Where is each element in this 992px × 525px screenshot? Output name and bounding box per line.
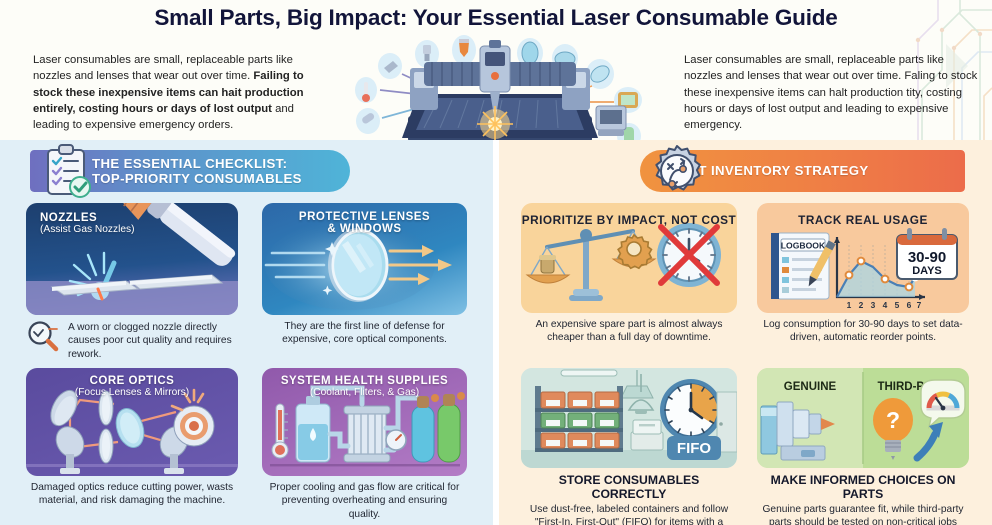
card-track-title-main: TRACK REAL USAGE (757, 213, 969, 227)
card-track-title: TRACK REAL USAGE (757, 213, 969, 227)
gear-on-scale (618, 235, 651, 268)
card-store-consumables[interactable]: FIFO STORE CONSUMABLES CORRECTLY Use dus… (521, 368, 737, 525)
card-prioritize-title-main: PRIORITIZE BY IMPACT, NOT COST (521, 213, 737, 227)
gear-strategy-icon (650, 144, 704, 198)
card-core-optics[interactable]: CORE OPTICS (Focus Lenses & Mirrors) (26, 368, 238, 508)
protective-lens-illustration: PROTECTIVE LENSES & WINDOWS (262, 203, 467, 315)
card-nozzles-caption: A worn or clogged nozzle directly causes… (64, 321, 238, 361)
card-prioritize-caption: An expensive spare part is almost always… (521, 318, 737, 345)
logbook: LOGBOOK (771, 233, 836, 299)
coolant-tank (296, 396, 330, 462)
svg-text:3: 3 (871, 300, 876, 310)
card-lenses-caption: They are the first line of defense for e… (262, 320, 467, 347)
card-store-heading: STORE CONSUMABLES CORRECTLY (521, 473, 737, 501)
card-parts-heading: MAKE INFORMED CHOICES ON PARTS (757, 473, 969, 501)
card-parts-caption: Genuine parts guarantee fit, while third… (757, 503, 969, 525)
genuine-vs-thirdparty-illustration: GENUINE THIRD-PARTY ? (757, 368, 969, 468)
control-monitor (596, 106, 626, 136)
card-store-caption: Use dust-free, labeled containers and fo… (521, 503, 737, 525)
card-track-real-usage[interactable]: TRACK REAL USAGE LOGBOOK (757, 203, 969, 345)
card-protective-lenses[interactable]: PROTECTIVE LENSES & WINDOWS (262, 203, 467, 347)
card-parts-caption-line1: Genuine parts guarantee fit, while third… (762, 504, 963, 515)
svg-text:2: 2 (859, 300, 864, 310)
coolant-filter-gas-illustration: SYSTEM HEALTH SUPPLIES (Coolant, Fliters… (262, 368, 467, 476)
intro-paragraph-left: Laser consumables are small, replaceable… (33, 52, 333, 133)
panel-divider (493, 140, 499, 525)
beam-path-mirrors-illustration: CORE OPTICS (Focus Lenses & Mirrors) (26, 368, 238, 476)
card-system-health-supplies[interactable]: SYSTEM HEALTH SUPPLIES (Coolant, Fliters… (262, 368, 467, 521)
card-optics-title-sub: (Focus Lenses & Mirrors) (26, 387, 238, 398)
logbook-label: LOGBOOK (781, 241, 826, 251)
laser-cutting-machine-illustration (352, 28, 647, 145)
banner-left-line2: TOP-PRIORITY CONSUMABLES (92, 171, 302, 186)
banner-smart-inventory[interactable]: SMART INVENTORY STRATEGY (640, 150, 965, 192)
svg-text:7: 7 (917, 300, 922, 310)
nozzle-cutting-sheet-illustration: NOZZLES (Assist Gas Nozzles) (26, 203, 238, 315)
card-prioritize-title: PRIORITIZE BY IMPACT, NOT COST (521, 213, 737, 227)
downtime-clock-crossed (657, 223, 721, 287)
card-prioritize-by-impact[interactable]: PRIORITIZE BY IMPACT, NOT COST (521, 203, 737, 345)
shelf-life-clock (660, 379, 722, 441)
banner-essential-checklist[interactable]: THE ESSENTIAL CHECKLIST: TOP-PRIORITY CO… (30, 150, 350, 192)
svg-text:4: 4 (883, 300, 888, 310)
card-parts-caption-line2: parts should be tested on non-critical j… (769, 517, 957, 525)
balance-scale-crossed-clock-illustration: PRIORITIZE BY IMPACT, NOT COST (521, 203, 737, 313)
card-nozzles-title-main: NOZZLES (40, 212, 238, 224)
infographic-page: Small Parts, Big Impact: Your Essential … (0, 0, 992, 525)
bins-row-3 (541, 433, 619, 448)
filter-unit (344, 406, 390, 462)
calendar-line2: DAYS (912, 265, 942, 277)
card-track-caption: Log consumption for 30-90 days to set da… (757, 318, 969, 345)
fifo-label: FIFO (677, 440, 711, 457)
clipboard-checklist-icon (40, 142, 96, 200)
bins-row-2 (541, 413, 619, 428)
card-store-caption-line1: Use dust-free, labeled containers and fo… (530, 504, 728, 515)
fifo-badge: FIFO (667, 436, 721, 460)
calendar-line1: 30-90 (908, 249, 946, 266)
card-optics-caption: Damaged optics reduce cutting power, was… (26, 481, 238, 508)
thermometer (272, 404, 288, 458)
header-section: Small Parts, Big Impact: Your Essential … (0, 0, 992, 145)
storage-boxes (631, 420, 663, 450)
calendar-badge: 30-90 DAYS (897, 228, 957, 279)
card-optics-title-main: CORE OPTICS (26, 375, 238, 387)
svg-text:1: 1 (847, 300, 852, 310)
banner-left-text: THE ESSENTIAL CHECKLIST: TOP-PRIORITY CO… (92, 156, 302, 187)
shelving-clock-fifo-illustration: FIFO (521, 368, 737, 468)
balance-scale (527, 229, 655, 301)
chart-x-tick-labels: 123 456 7 (847, 300, 922, 310)
banner-left-line1: THE ESSENTIAL CHECKLIST: (92, 156, 287, 171)
svg-text:?: ? (886, 407, 900, 433)
intro-paragraph-right: Laser consumables are small, replaceable… (684, 52, 984, 133)
svg-text:5: 5 (895, 300, 900, 310)
label-genuine: GENUINE (784, 381, 837, 393)
magnifier-icon (26, 319, 60, 353)
card-lenses-title: PROTECTIVE LENSES & WINDOWS (262, 211, 467, 235)
card-lenses-title-main: PROTECTIVE LENSES (262, 211, 467, 223)
svg-text:6: 6 (907, 300, 912, 310)
card-health-caption: Proper cooling and gas flow are critical… (262, 481, 467, 521)
card-nozzles[interactable]: NOZZLES (Assist Gas Nozzles) (26, 203, 238, 361)
card-informed-choices[interactable]: GENUINE THIRD-PARTY ? (757, 368, 969, 525)
bins-row-1 (541, 392, 619, 408)
card-health-title-main: SYSTEM HEALTH SUPPLIES (262, 375, 467, 387)
card-health-title-sub: (Coolant, Fliters, & Gas) (262, 387, 467, 398)
card-store-caption-line2: "First-In, First-Out" (FIFO) for items w… (535, 517, 723, 525)
card-nozzles-title-sub: (Assist Gas Nozzles) (40, 224, 238, 235)
logbook-usage-chart-calendar-illustration: TRACK REAL USAGE LOGBOOK (757, 203, 969, 313)
card-optics-title: CORE OPTICS (Focus Lenses & Mirrors) (26, 375, 238, 398)
card-health-title: SYSTEM HEALTH SUPPLIES (Coolant, Fliters… (262, 375, 467, 398)
shelving-rack (535, 386, 623, 452)
card-nozzles-title: NOZZLES (Assist Gas Nozzles) (26, 212, 238, 235)
small-part-nozzle (539, 255, 556, 273)
card-lenses-title-sub: & WINDOWS (262, 223, 467, 235)
gas-cylinders (412, 392, 465, 462)
